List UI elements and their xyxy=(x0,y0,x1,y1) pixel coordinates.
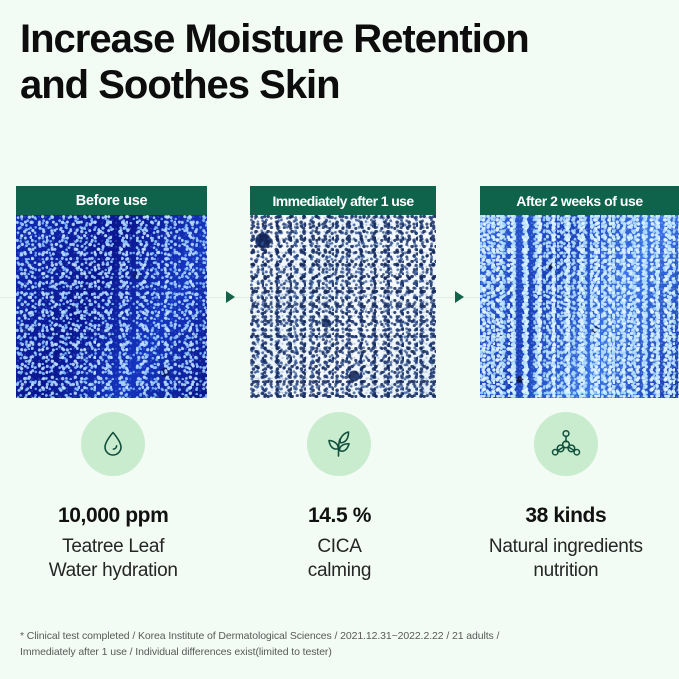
comparison-panel-after-2-weeks: After 2 weeks of use xyxy=(480,186,679,398)
stat-description-line-1: Teatree Leaf xyxy=(49,535,178,559)
panel-label-before: Before use xyxy=(16,186,207,215)
arrow-right-icon xyxy=(455,291,464,303)
microscopy-image-after-2-weeks xyxy=(480,215,679,398)
arrow-right-icon xyxy=(226,291,235,303)
stat-description-line-1: CICA xyxy=(308,535,371,559)
microscopy-texture xyxy=(16,215,207,398)
page-title: Increase Moisture Retention and Soothes … xyxy=(20,16,670,109)
stat-description-line-1: Natural ingredients xyxy=(489,535,643,559)
stat-description-line-2: nutrition xyxy=(489,559,643,583)
water-drop-icon xyxy=(81,412,145,476)
footnote-line-1: * Clinical test completed / Korea Instit… xyxy=(20,628,665,644)
comparison-panel-group: Before use Immediately after 1 use After… xyxy=(0,186,679,398)
stat-description-line-2: calming xyxy=(308,559,371,583)
microscopy-image-before xyxy=(16,215,207,398)
footnote: * Clinical test completed / Korea Instit… xyxy=(20,628,665,661)
footnote-line-2: Immediately after 1 use / Individual dif… xyxy=(20,644,665,660)
stat-value: 38 kinds xyxy=(525,504,606,528)
microscopy-texture xyxy=(480,215,679,398)
molecule-icon xyxy=(534,412,598,476)
stats-row: 10,000 ppm Teatree Leaf Water hydration … xyxy=(0,412,679,584)
page-title-line-2: and Soothes Skin xyxy=(20,62,670,108)
comparison-panel-after-1-use: Immediately after 1 use xyxy=(250,186,436,398)
panel-label-after-2-weeks: After 2 weeks of use xyxy=(480,186,679,215)
stat-description: CICA calming xyxy=(308,535,371,584)
stat-item-cica: 14.5 % CICA calming xyxy=(226,412,452,584)
stat-item-hydration: 10,000 ppm Teatree Leaf Water hydration xyxy=(0,412,226,584)
stat-value: 14.5 % xyxy=(308,504,371,528)
leaf-sprig-icon xyxy=(307,412,371,476)
stat-item-ingredients: 38 kinds Natural ingredients nutrition xyxy=(453,412,679,584)
stat-value: 10,000 ppm xyxy=(58,504,168,528)
stat-description: Teatree Leaf Water hydration xyxy=(49,535,178,584)
page-title-line-1: Increase Moisture Retention xyxy=(20,16,670,62)
panel-label-after-1-use: Immediately after 1 use xyxy=(250,186,436,215)
comparison-panel-before: Before use xyxy=(16,186,207,398)
microscopy-texture xyxy=(250,215,436,398)
stat-description-line-2: Water hydration xyxy=(49,559,178,583)
microscopy-image-after-1-use xyxy=(250,215,436,398)
stat-description: Natural ingredients nutrition xyxy=(489,535,643,584)
